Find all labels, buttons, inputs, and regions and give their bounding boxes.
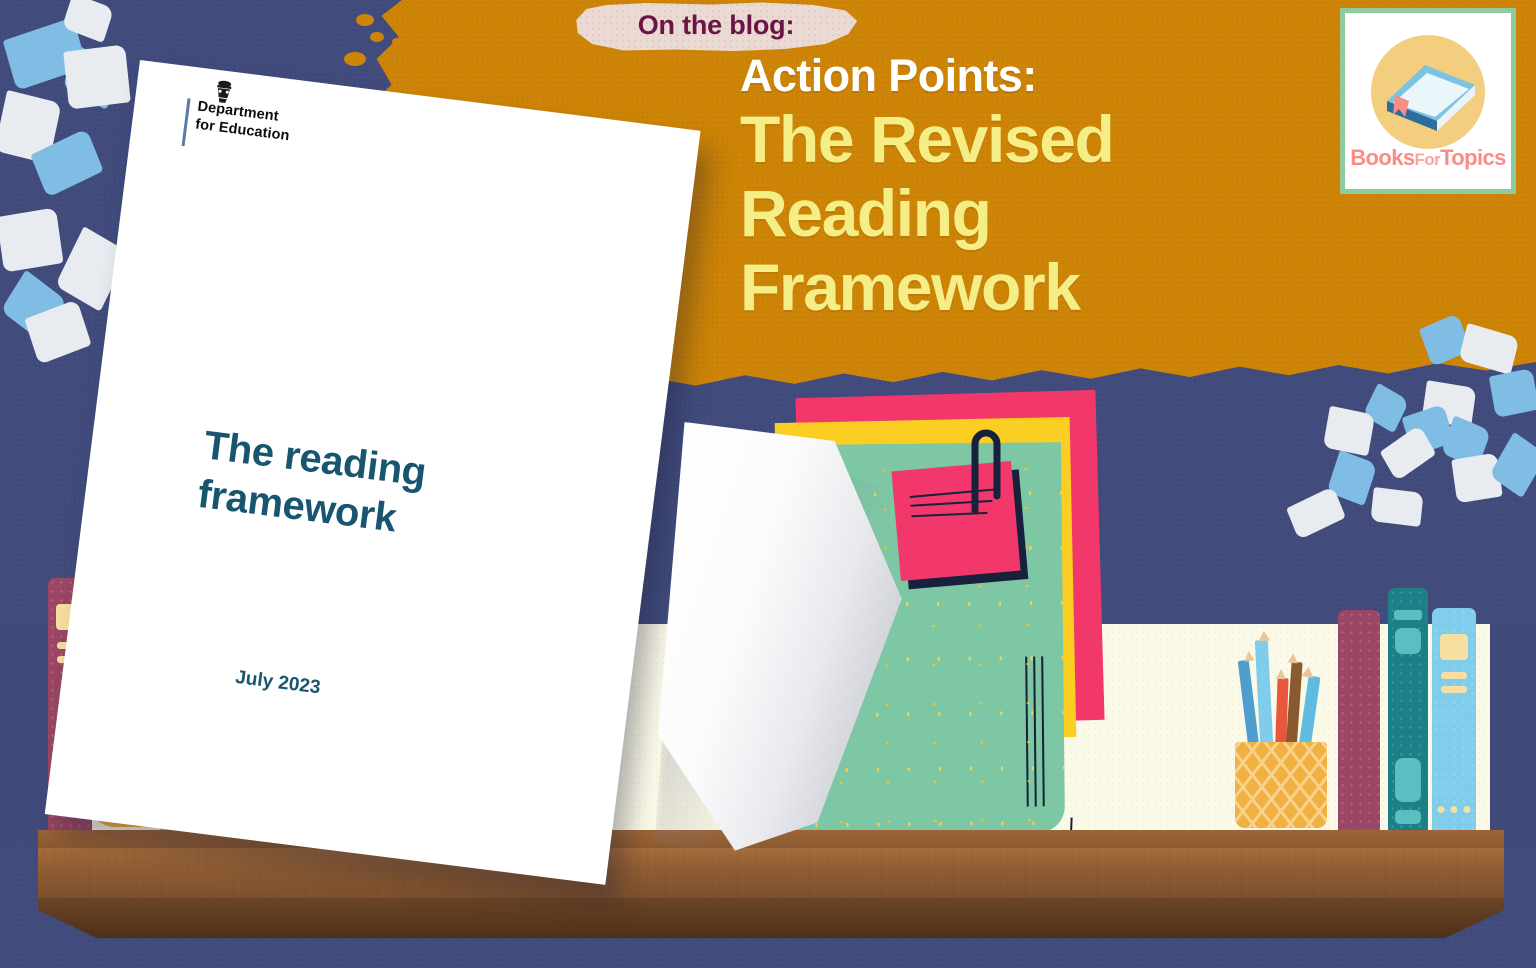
on-the-blog-badge: On the blog: bbox=[572, 2, 860, 52]
book bbox=[1432, 608, 1476, 836]
confetti-piece bbox=[1489, 368, 1536, 418]
pencil-tip bbox=[1288, 653, 1299, 664]
pencil-tip bbox=[1276, 669, 1286, 679]
logo-wordmark: BooksForTopics bbox=[1345, 145, 1511, 171]
pencil-tip bbox=[1243, 650, 1254, 661]
dfe-logo: Department for Education bbox=[182, 96, 293, 159]
book-label bbox=[1440, 634, 1468, 660]
confetti-piece bbox=[1323, 406, 1375, 457]
headline-kicker: Action Points: bbox=[740, 52, 1360, 101]
book-band bbox=[1395, 810, 1421, 824]
document-title: The reading framework bbox=[195, 421, 624, 570]
confetti-piece bbox=[1370, 487, 1423, 527]
book-band bbox=[1395, 758, 1421, 802]
book bbox=[1388, 588, 1428, 836]
confetti-piece bbox=[0, 207, 64, 272]
document-date: July 2023 bbox=[234, 667, 322, 700]
page-curl bbox=[653, 430, 927, 876]
shelf-underside bbox=[38, 898, 1504, 938]
book-band bbox=[1395, 628, 1421, 654]
banner-splotch bbox=[356, 14, 374, 26]
shelf-backing-right-edge bbox=[1490, 624, 1536, 844]
book-icon bbox=[1375, 57, 1481, 131]
book-stripe bbox=[1441, 686, 1467, 693]
book bbox=[1338, 610, 1380, 836]
book-stripe bbox=[1441, 672, 1467, 679]
logo-for: For bbox=[1414, 150, 1440, 169]
dfe-rule bbox=[182, 98, 191, 146]
book-band bbox=[1394, 610, 1422, 620]
confetti-cluster-right bbox=[1276, 300, 1536, 560]
promo-graphic: Department for Education The reading fra… bbox=[0, 0, 1536, 968]
folder-edge-lines bbox=[1025, 656, 1047, 806]
pencil-tip bbox=[1258, 631, 1271, 642]
logo-topics: Topics bbox=[1440, 145, 1506, 170]
badge-label: On the blog: bbox=[572, 2, 860, 52]
headline-line-2: Reading bbox=[740, 179, 1360, 249]
document-cover: Department for Education The reading fra… bbox=[45, 60, 701, 885]
book-dots bbox=[1438, 806, 1471, 813]
pencil-cup bbox=[1235, 742, 1327, 828]
paperclip-icon bbox=[965, 424, 1001, 514]
headline-line-1: The Revised bbox=[740, 105, 1360, 175]
logo-books: Books bbox=[1350, 145, 1414, 170]
headline-line-3: Framework bbox=[740, 253, 1360, 323]
pencil-tip bbox=[1301, 666, 1314, 678]
royal-crest-icon bbox=[209, 77, 238, 106]
headline-block: Action Points: The Revised Reading Frame… bbox=[740, 52, 1360, 322]
reading-framework-document: Department for Education The reading fra… bbox=[120, 30, 760, 880]
dfe-text: Department for Education bbox=[194, 98, 293, 146]
brand-logo[interactable]: BooksForTopics bbox=[1340, 8, 1516, 194]
confetti-piece bbox=[1458, 323, 1519, 375]
